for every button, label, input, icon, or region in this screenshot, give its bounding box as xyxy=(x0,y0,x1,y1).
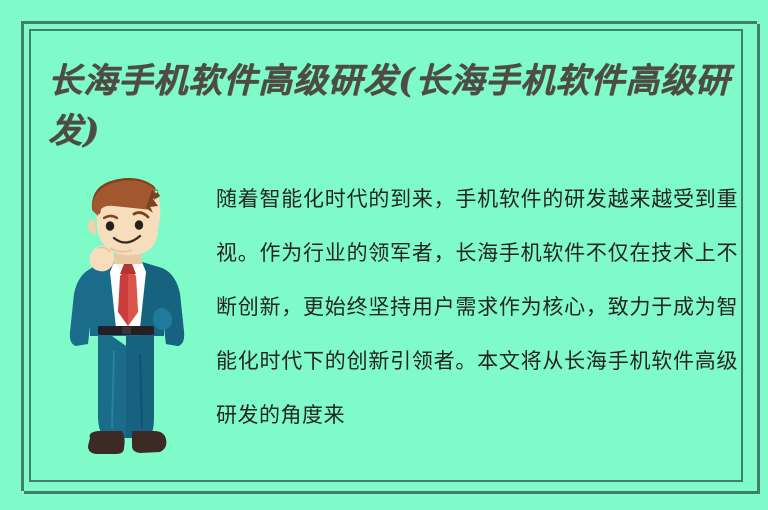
page-title: 长海手机软件高级研发(长海手机软件高级研发) xyxy=(48,56,740,156)
right-shoe xyxy=(132,431,166,453)
belt-buckle xyxy=(122,327,131,334)
left-shoe xyxy=(88,431,125,454)
thinking-businessman-illustration xyxy=(54,176,206,476)
left-ear xyxy=(88,220,96,234)
poster-canvas: 长海手机软件高级研发(长海手机软件高级研发) xyxy=(0,0,768,510)
right-eye xyxy=(135,220,143,230)
body-paragraph: 随着智能化时代的到来，手机软件的研发越来越受到重视。作为行业的领军者，长海手机软… xyxy=(216,172,738,442)
left-eye xyxy=(106,221,114,231)
